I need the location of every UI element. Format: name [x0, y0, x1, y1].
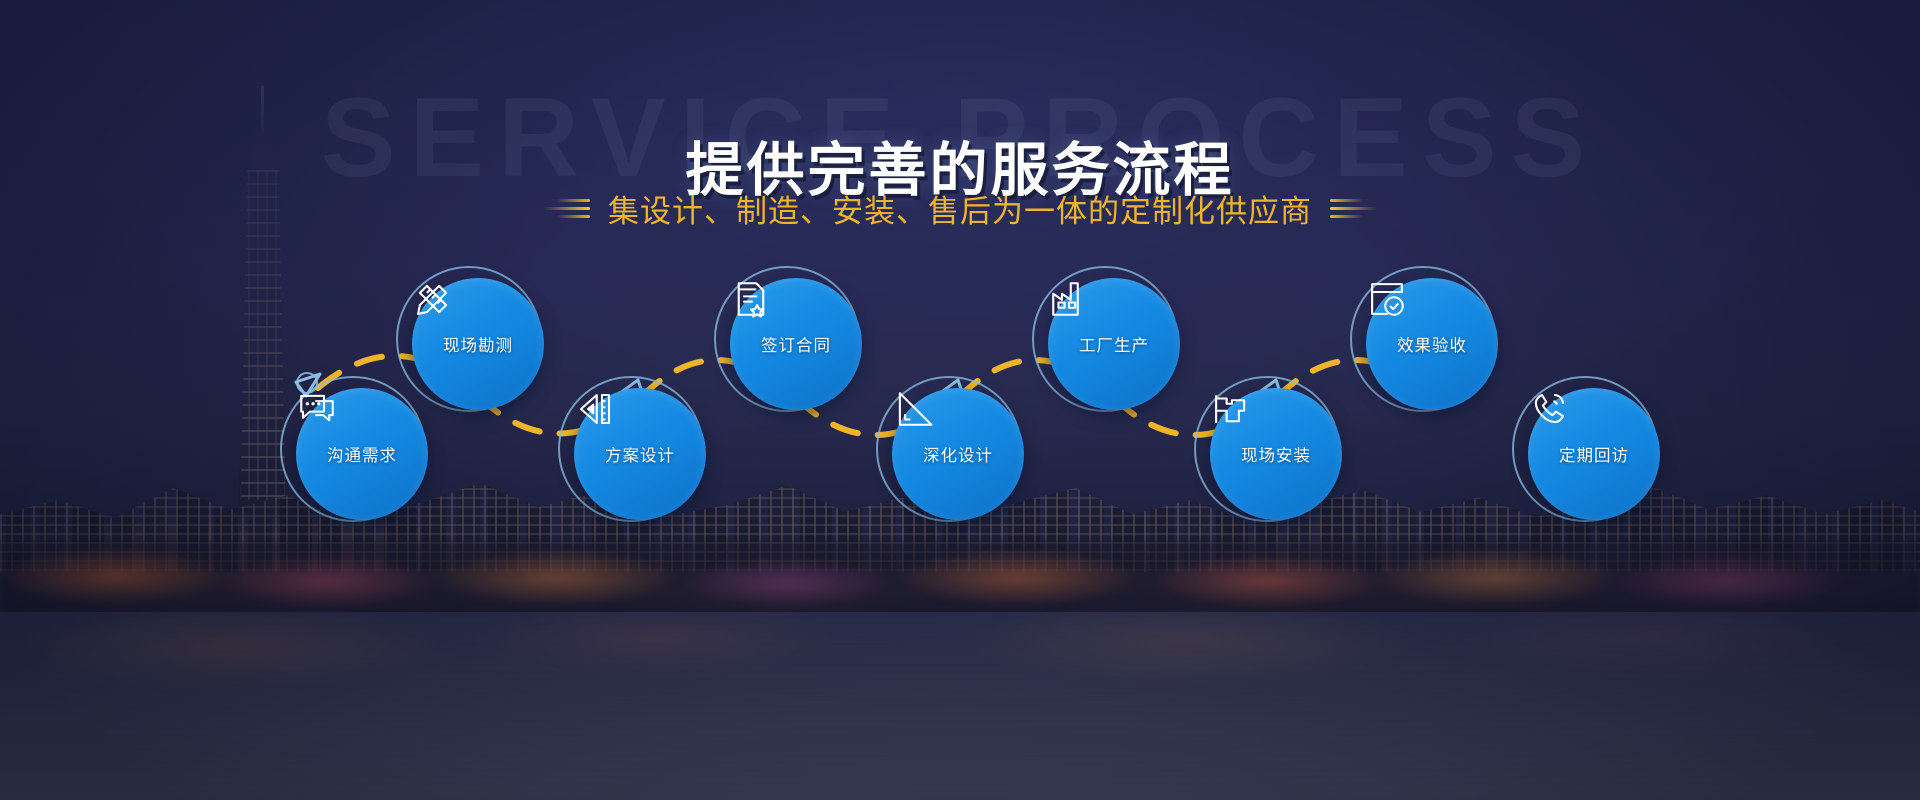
process-step-5[interactable]: 深化设计 — [892, 388, 1024, 520]
process-step-7[interactable]: 现场安装 — [1210, 388, 1342, 520]
node-disc: 方案设计 — [574, 388, 706, 520]
step-label: 深化设计 — [923, 442, 993, 466]
process-step-8[interactable]: 效果验收 — [1366, 278, 1498, 410]
node-disc: 工厂生产 — [1048, 278, 1180, 410]
process-step-9[interactable]: 定期回访 — [1528, 388, 1660, 520]
process-step-3[interactable]: 方案设计 — [574, 388, 706, 520]
step-label: 沟通需求 — [327, 442, 397, 466]
node-disc: 沟通需求 — [296, 388, 428, 520]
contract-document-icon — [730, 278, 772, 320]
step-label: 现场勘测 — [443, 332, 513, 356]
process-step-2[interactable]: 现场勘测 — [412, 278, 544, 410]
node-disc: 效果验收 — [1366, 278, 1498, 410]
node-disc: 现场安装 — [1210, 388, 1342, 520]
design-ruler-icon — [574, 388, 616, 430]
process-flow: .dash{fill:none;stroke:#f0b429;stroke-wi… — [0, 0, 1920, 800]
node-disc: 深化设计 — [892, 388, 1024, 520]
ruler-pencil-icon — [412, 278, 454, 320]
chat-bubble-icon — [296, 388, 338, 430]
step-label: 定期回访 — [1559, 442, 1629, 466]
step-label: 效果验收 — [1397, 332, 1467, 356]
process-step-1[interactable]: 沟通需求 — [296, 388, 428, 520]
node-disc: 签订合同 — [730, 278, 862, 410]
installation-tool-icon — [1210, 388, 1252, 430]
step-label: 方案设计 — [605, 442, 675, 466]
node-disc: 现场勘测 — [412, 278, 544, 410]
set-square-icon — [892, 388, 934, 430]
phone-call-icon — [1528, 388, 1570, 430]
process-step-4[interactable]: 签订合同 — [730, 278, 862, 410]
checked-window-icon — [1366, 278, 1408, 320]
step-label: 工厂生产 — [1079, 332, 1149, 356]
process-step-6[interactable]: 工厂生产 — [1048, 278, 1180, 410]
step-label: 现场安装 — [1241, 442, 1311, 466]
step-label: 签订合同 — [761, 332, 831, 356]
factory-icon — [1048, 278, 1090, 320]
node-disc: 定期回访 — [1528, 388, 1660, 520]
service-process-banner: SERVICE PROCESS 提供完善的服务流程 集设计、制造、安装、售后为一… — [0, 0, 1920, 800]
